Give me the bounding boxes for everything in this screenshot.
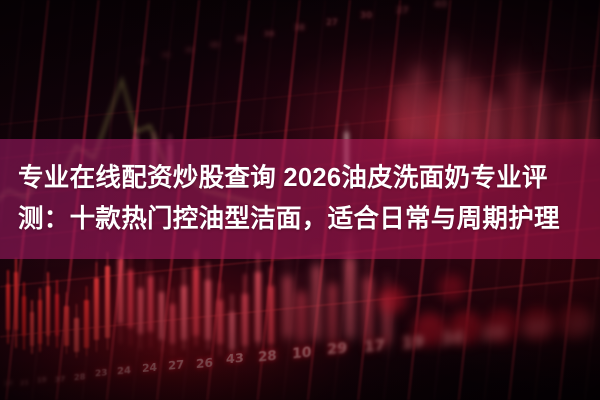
axis-tick-label-top: 40 [434,0,447,10]
axis-tick-label: 43 [226,353,244,367]
axis-tick-label: 34 [441,329,464,347]
headline-line-1: 专业在线配资炒股查询 2026油皮洗面奶专业评 [18,158,582,199]
axis-tick-label: 26 [196,356,213,370]
headline-line-2: 测：十款热门控油型洁面，适合日常与周期护理 [18,199,582,240]
axis-tick-label-top: 38 [185,48,194,54]
axis-tick-label: 28 [258,349,277,364]
axis-tick-label-top: 38 [294,24,305,32]
axis-tick-label: 21 [20,379,29,386]
axis-tick-label: 24 [142,363,157,375]
axis-tick-label: 37 [55,375,65,383]
headline-block: 专业在线配资炒股查询 2026油皮洗面奶专业评 测：十款热门控油型洁面，适合日常… [0,139,600,259]
axis-tick-label: 27 [168,360,184,373]
axis-tick-label-top: 30 [360,12,372,21]
axis-tick-label: 17 [364,338,385,355]
promo-banner: 4346384028383827302740 18211937282324242… [0,0,600,400]
axis-numbers-top: 4346384028383827302740 [140,0,600,60]
axis-tick-label-top: 38 [264,30,274,37]
axis-tick-label-top: 40 [210,42,219,49]
axis-tick-label-top: 43 [140,60,148,65]
bokeh-blob [439,275,465,301]
axis-tick-label-top: 46 [162,54,170,60]
axis-tick-label: 10 [292,346,311,362]
axis-tick-label: 32 [566,316,591,337]
axis-tick-label-top: 28 [236,36,246,43]
axis-tick-label-top: 27 [326,18,338,26]
axis-tick-label: 29 [327,342,347,358]
axis-tick-label: 34 [524,320,548,340]
axis-tick-label: 19 [402,334,424,352]
axis-tick-label: 24 [117,366,131,377]
axis-tick-label: 28 [74,372,85,381]
axis-tick-label: 19 [37,377,46,385]
axis-tick-label-top: 27 [396,6,409,15]
axis-tick-label: 23 [95,369,108,379]
axis-tick-label: 29 [482,325,506,344]
axis-tick-label: 18 [4,381,12,388]
